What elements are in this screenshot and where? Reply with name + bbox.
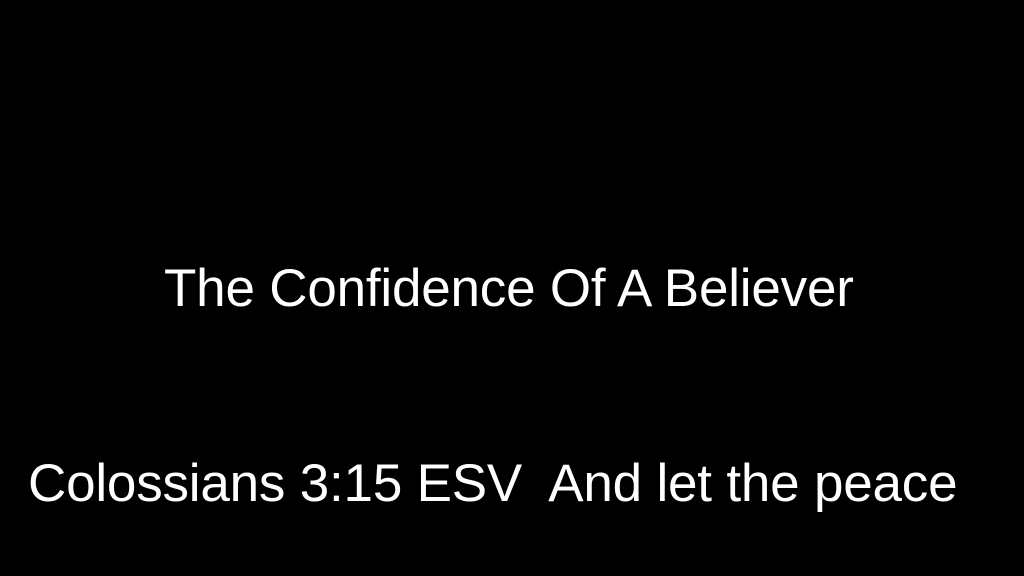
slide-text-line-2: Colossians 3:15 ESV And let the peace xyxy=(28,451,960,516)
slide-text-block: The Confidence Of A Believer Colossians … xyxy=(28,126,960,576)
presentation-slide: The Confidence Of A Believer Colossians … xyxy=(0,0,1024,576)
slide-text-line-1: The Confidence Of A Believer xyxy=(28,256,960,321)
